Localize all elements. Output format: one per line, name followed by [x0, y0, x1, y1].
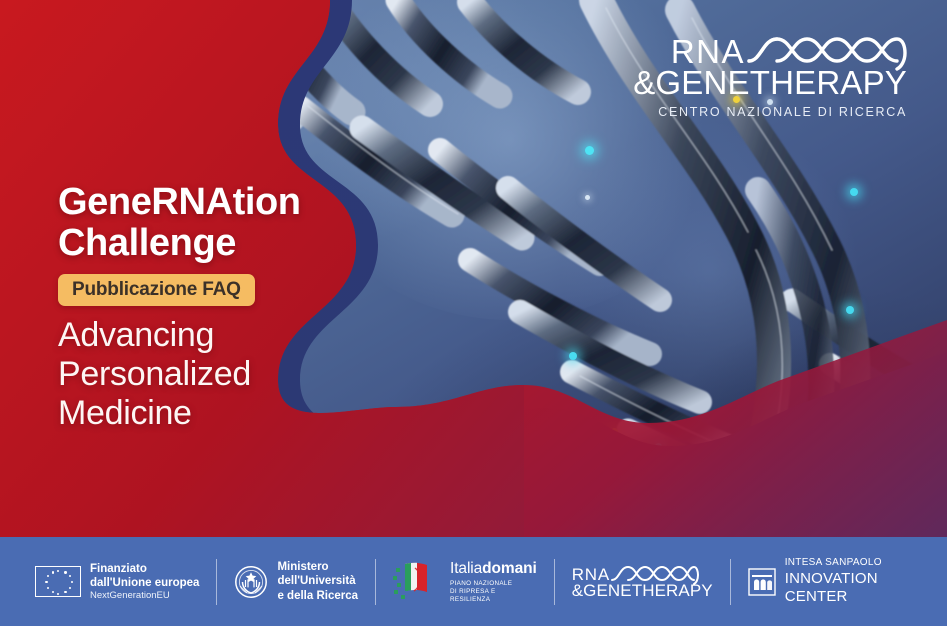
brand-rna-text: RNA	[671, 35, 745, 68]
subheadline-line-2: Personalized	[58, 355, 388, 394]
subheadline: Advancing Personalized Medicine	[58, 316, 388, 432]
footer-logo-italiadomani: Italiadomani PIANO NAZIONALE DI RIPRESA …	[376, 554, 554, 610]
italiadomani-line-1b: domani	[482, 560, 537, 577]
ministero-line-1: Ministero	[277, 560, 358, 574]
status-badge: Pubblicazione FAQ	[58, 274, 255, 306]
footer-genetherapy-text: &GENETHERAPY	[572, 582, 713, 599]
footer-logo-text: INTESA SANPAOLO INNOVATION CENTER	[785, 557, 912, 607]
brand-subtitle: CENTRO NAZIONALE DI RICERCA	[633, 105, 907, 119]
eu-line-3: NextGenerationEU	[90, 590, 199, 602]
brand-genetherapy-text: &GENETHERAPY	[633, 66, 907, 99]
eu-flag-icon	[35, 566, 81, 597]
footer-logo-text: Ministero dell'Università e della Ricerc…	[277, 560, 358, 602]
footer-logo-text: Finanziato dall'Unione europea NextGener…	[90, 562, 199, 602]
footer-logo-bar: Finanziato dall'Unione europea NextGener…	[0, 537, 947, 626]
headline-block: GeneRNAtion Challenge Pubblicazione FAQ …	[58, 182, 388, 433]
ministero-line-3: e della Ricerca	[277, 589, 358, 603]
subheadline-line-3: Medicine	[58, 394, 388, 433]
intesa-line-2: INNOVATION CENTER	[785, 570, 912, 607]
italiadomani-line-1: Italia	[450, 560, 482, 577]
subheadline-line-1: Advancing	[58, 316, 388, 355]
footer-logo-intesa-sanpaolo: INTESA SANPAOLO INNOVATION CENTER	[731, 554, 929, 610]
bridge-arches-icon	[748, 568, 776, 596]
ministero-line-2: dell'Università	[277, 574, 358, 588]
italiadomani-line-3: DI RIPRESA E RESILIENZA	[450, 588, 537, 603]
intesa-line-1: INTESA SANPAOLO	[785, 557, 912, 569]
italian-republic-emblem-icon	[234, 565, 268, 599]
italiadomani-line-2: PIANO NAZIONALE	[450, 580, 537, 588]
brand-logo: RNA &GENETHERAPY CENTRO NAZIONALE DI RIC…	[633, 30, 907, 119]
promotional-banner: GeneRNAtion Challenge Pubblicazione FAQ …	[0, 0, 947, 626]
italia-flag-icon	[393, 562, 441, 602]
page-title: GeneRNAtion Challenge	[58, 182, 388, 263]
footer-rna-text: RNA	[572, 566, 610, 583]
footer-logo-ministero: Ministero dell'Università e della Ricerc…	[217, 554, 375, 610]
headline-line-1: GeneRNAtion	[58, 181, 301, 223]
italiadomani-wordmark: Italiadomani	[450, 560, 537, 579]
footer-logo-eu-funding: Finanziato dall'Unione europea NextGener…	[18, 554, 216, 610]
eu-line-1: Finanziato	[90, 562, 199, 576]
eu-line-2: dall'Unione europea	[90, 576, 199, 590]
footer-logo-text: RNA &GENETHERAPY	[572, 564, 713, 599]
headline-line-2: Challenge	[58, 223, 388, 264]
footer-logo-rna-genetherapy: RNA &GENETHERAPY	[555, 554, 730, 610]
footer-logo-text: Italiadomani PIANO NAZIONALE DI RIPRESA …	[450, 560, 537, 604]
